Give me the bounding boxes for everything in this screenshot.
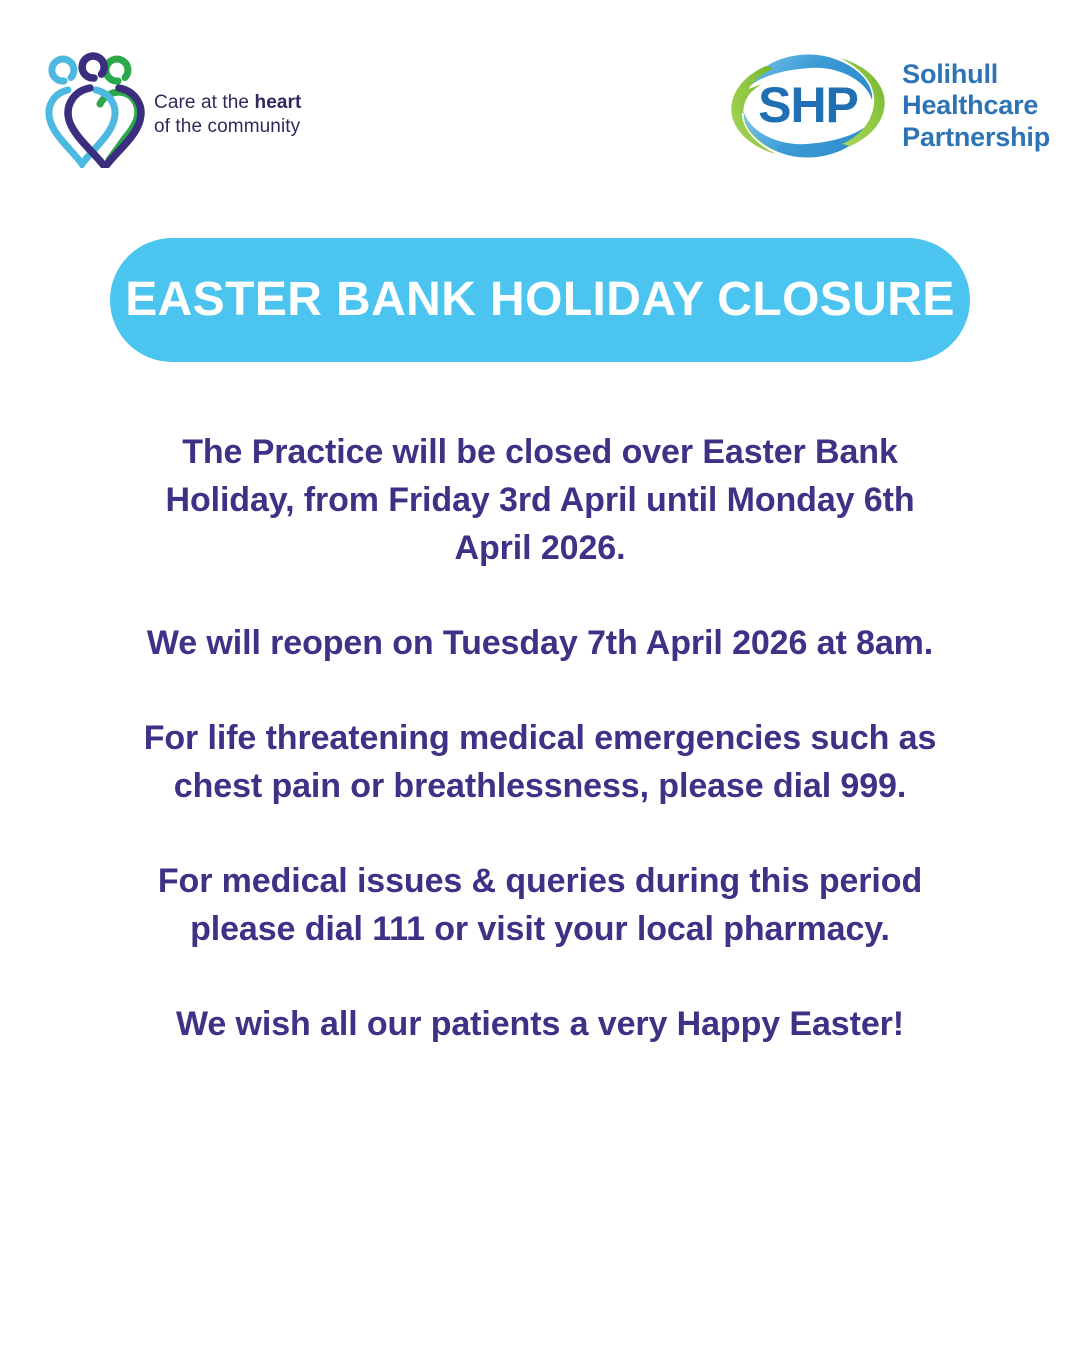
header-logo-bar: Care at the heart of the community <box>0 0 1080 200</box>
tagline-prefix: Care at the <box>154 92 254 113</box>
shp-monogram-text: SHP <box>758 77 858 133</box>
shp-logo: SHP Solihull Healthcare Partnership <box>722 44 1050 168</box>
headline-title: EASTER BANK HOLIDAY CLOSURE <box>125 276 955 324</box>
shp-name-line-1: Solihull <box>902 59 1050 91</box>
notice-body: The Practice will be closed over Easter … <box>140 428 940 1048</box>
shp-logo-wordmark: Solihull Healthcare Partnership <box>902 59 1050 154</box>
tagline-line-2: of the community <box>154 115 301 139</box>
care-at-the-heart-logo: Care at the heart of the community <box>38 48 301 168</box>
notice-paragraph: The Practice will be closed over Easter … <box>140 428 940 572</box>
notice-paragraph: We wish all our patients a very Happy Ea… <box>140 1000 940 1048</box>
three-people-hearts-icon <box>38 48 150 168</box>
shp-oval-swoosh-icon: SHP <box>722 44 894 168</box>
notice-paragraph: For life threatening medical emergencies… <box>140 714 940 810</box>
notice-paragraph: We will reopen on Tuesday 7th April 2026… <box>140 619 940 667</box>
notice-paragraph: For medical issues & queries during this… <box>140 857 940 953</box>
care-logo-tagline: Care at the heart of the community <box>154 91 301 140</box>
tagline-bold-word: heart <box>254 92 301 113</box>
headline-banner: EASTER BANK HOLIDAY CLOSURE <box>110 238 970 362</box>
shp-name-line-2: Healthcare <box>902 90 1050 122</box>
shp-name-line-3: Partnership <box>902 122 1050 154</box>
